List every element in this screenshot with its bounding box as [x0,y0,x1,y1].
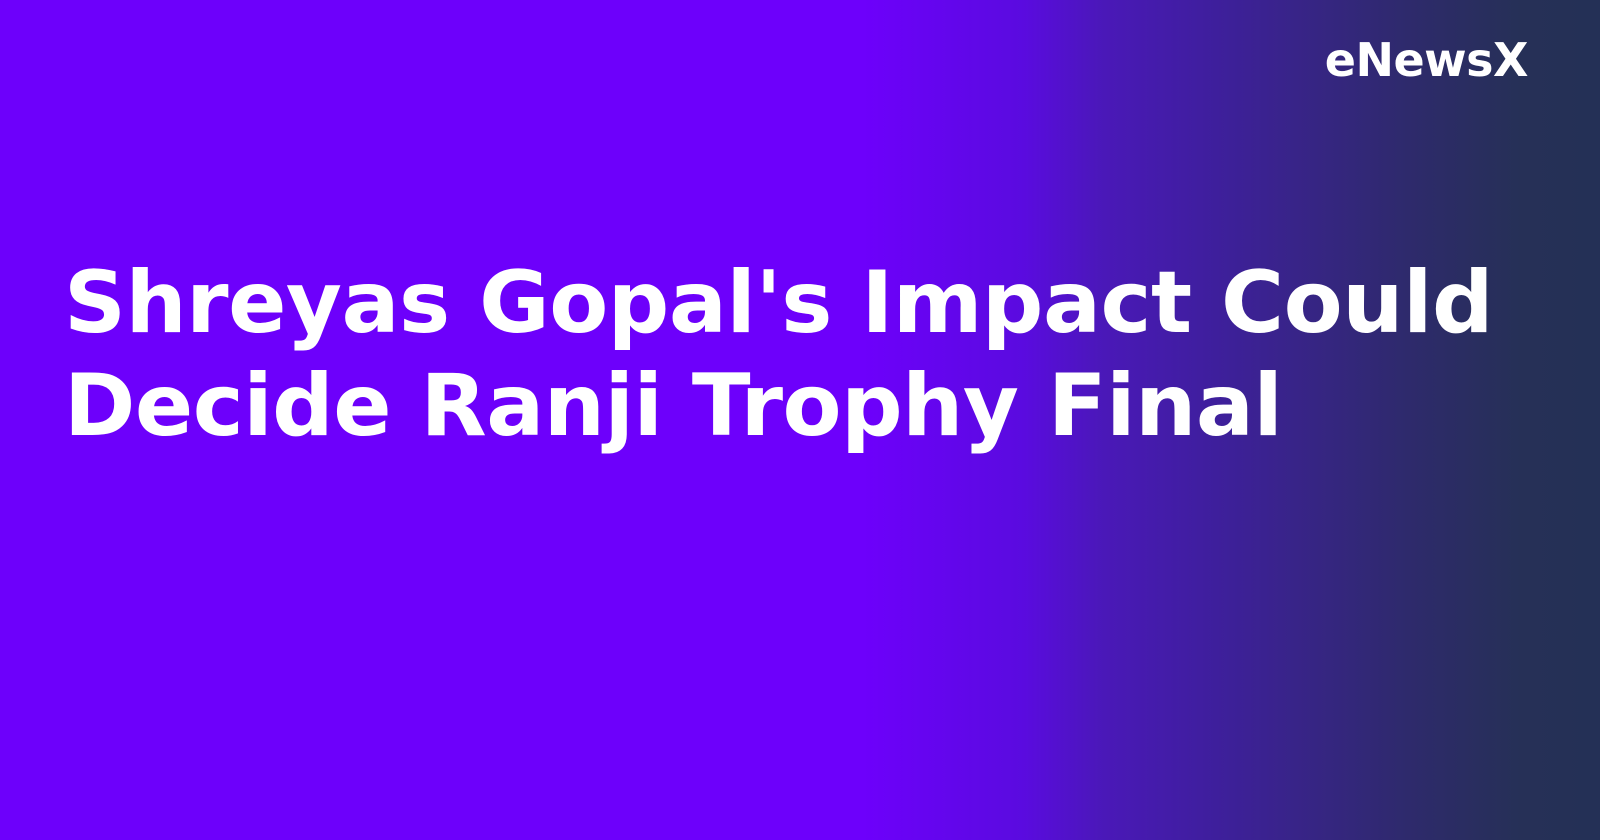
news-headline-card: eNewsX Shreyas Gopal's Impact Could Deci… [0,0,1600,840]
page-title: Shreyas Gopal's Impact Could Decide Ranj… [64,252,1504,458]
brand-wordmark-text: eNewsX [1325,37,1528,83]
brand-logo[interactable]: eNewsX [1325,28,1528,92]
headline-block: Shreyas Gopal's Impact Could Decide Ranj… [64,252,1504,458]
